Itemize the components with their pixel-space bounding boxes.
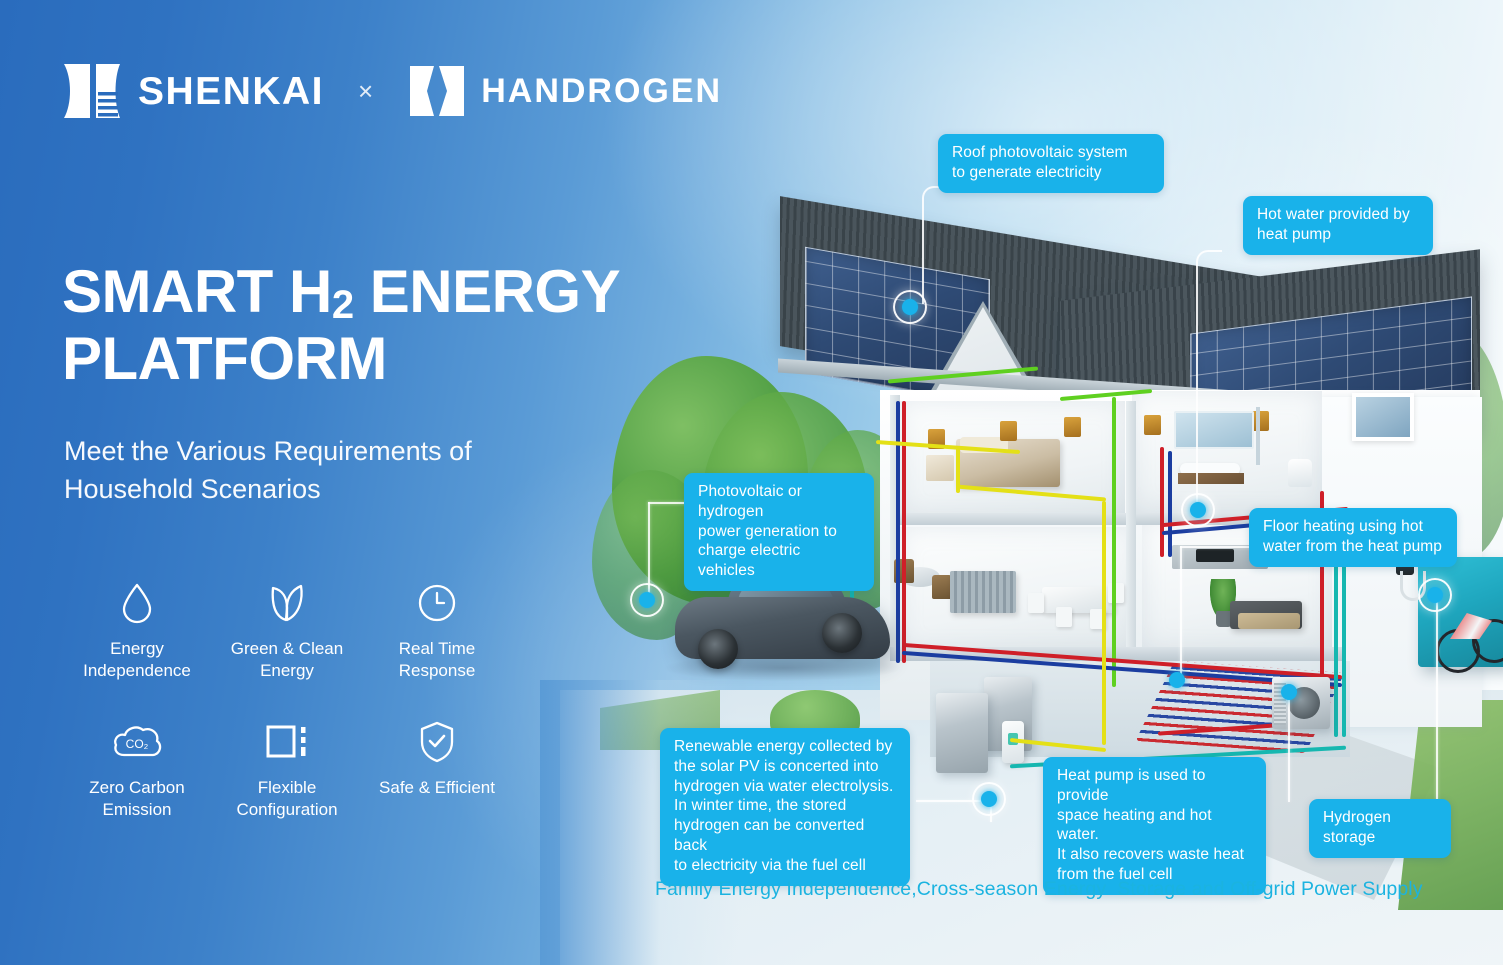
svg-text:CO₂: CO₂: [126, 737, 149, 751]
callout-floor-heating[interactable]: Floor heating using hot water from the h…: [1249, 508, 1457, 567]
logo-separator-icon: ×: [358, 76, 373, 107]
handrogen-mark-icon: [407, 63, 467, 119]
feature-green-clean-energy: Green & Clean Energy: [212, 578, 362, 683]
wall-lamp: [1144, 415, 1161, 435]
feature-label: Zero Carbon Emission: [62, 777, 212, 822]
shower-column: [1256, 407, 1260, 465]
pipe-cold-blue: [896, 401, 900, 663]
hotspot-ev-charging[interactable]: [630, 583, 664, 617]
leader-line-floor-heating: [1180, 546, 1182, 674]
pipe-hydrogen-yellow: [1102, 501, 1106, 745]
sofa-cushion: [1238, 613, 1300, 629]
toilet: [1288, 459, 1312, 487]
handrogen-wordmark: HANDROGEN: [481, 74, 722, 108]
hotspot-heat-pump[interactable]: [1272, 675, 1306, 709]
wall-lamp: [1064, 417, 1081, 437]
feature-real-time-response: Real Time Response: [362, 578, 512, 683]
feature-label: Safe & Efficient: [362, 777, 512, 799]
fuel-cell-cabinet: [936, 693, 988, 773]
leaf-icon: [267, 582, 307, 624]
handrogen-logo[interactable]: HANDROGEN: [407, 63, 722, 119]
hotspot-hot-water[interactable]: [1181, 493, 1215, 527]
pipe-hot-red: [902, 401, 906, 663]
droplet-icon: [120, 582, 154, 624]
feature-label: Energy Independence: [62, 638, 212, 683]
feature-safe-efficient: Safe & Efficient: [362, 717, 512, 822]
feature-label: Green & Clean Energy: [212, 638, 362, 683]
callout-roof-pv[interactable]: Roof photovoltaic system to generate ele…: [938, 134, 1164, 193]
hotspot-electrolysis[interactable]: [972, 782, 1006, 816]
callout-hydrogen-storage[interactable]: Hydrogen storage: [1309, 799, 1451, 858]
television: [1196, 549, 1234, 562]
feature-label: Flexible Configuration: [212, 777, 362, 822]
feature-label: Real Time Response: [362, 638, 512, 683]
leader-line-heat-pump: [1288, 694, 1290, 802]
brand-logo-row: SHENKAI × HANDROGEN: [62, 62, 722, 120]
modular-square-icon: [264, 722, 310, 762]
interior-wall: [1126, 401, 1136, 656]
pipe-electric-green: [1112, 397, 1116, 687]
feature-energy-independence: Energy Independence: [62, 578, 212, 683]
dining-chair: [1108, 583, 1124, 603]
leader-line-hot-water: [1196, 250, 1222, 508]
car-rear-wheel: [822, 613, 862, 653]
callout-hot-water[interactable]: Hot water provided by heat pump: [1243, 196, 1433, 255]
callout-electrolysis[interactable]: Renewable energy collected by the solar …: [660, 728, 910, 886]
title-subscript: 2: [332, 283, 354, 327]
bottom-caption: Family Energy Independence,Cross-season …: [655, 878, 1485, 901]
feature-grid: Energy Independence Green & Clean Energy…: [62, 578, 512, 822]
callout-ev-charging[interactable]: Photovoltaic or hydrogen power generatio…: [684, 473, 874, 591]
leader-line-hydrogen-storage: [1436, 600, 1438, 800]
shenkai-logo[interactable]: SHENKAI: [62, 62, 324, 120]
armchair: [932, 575, 952, 599]
feature-zero-carbon-emission: CO₂ Zero Carbon Emission: [62, 717, 212, 822]
radiator: [950, 571, 1016, 613]
hotspot-roof-pv[interactable]: [893, 290, 927, 324]
page-subtitle: Meet the Various Requirements of Househo…: [64, 432, 584, 509]
shenkai-mark-icon: [62, 62, 124, 120]
shenkai-wordmark: SHENKAI: [138, 72, 324, 111]
hotspot-floor-heating[interactable]: [1160, 663, 1194, 697]
nightstand: [926, 455, 954, 481]
wall-lamp: [1252, 411, 1269, 431]
feature-flexible-configuration: Flexible Configuration: [212, 717, 362, 822]
hotspot-hydrogen-storage[interactable]: [1418, 578, 1452, 612]
side-window: [1352, 393, 1414, 441]
shield-check-icon: [418, 720, 456, 764]
wall-lamp: [1000, 421, 1017, 441]
title-line1-post: ENERGY: [354, 258, 621, 325]
title-line1-pre: SMART H: [62, 258, 332, 325]
pipe-hot-red: [1160, 447, 1164, 557]
page-title: SMART H2 ENERGY PLATFORM: [62, 258, 702, 392]
leader-line-roof-pv: [922, 186, 948, 304]
dining-chair: [1028, 593, 1044, 613]
infographic-canvas: Roof photovoltaic system to generate ele…: [0, 0, 1503, 965]
co2-cloud-icon: CO₂: [111, 722, 163, 762]
title-line2: PLATFORM: [62, 325, 387, 392]
clock-icon: [416, 582, 458, 624]
callout-heat-pump[interactable]: Heat pump is used to provide space heati…: [1043, 757, 1266, 895]
pipe-cold-blue: [1168, 451, 1172, 557]
car-front-wheel: [698, 629, 738, 669]
dining-chair: [1056, 607, 1072, 627]
